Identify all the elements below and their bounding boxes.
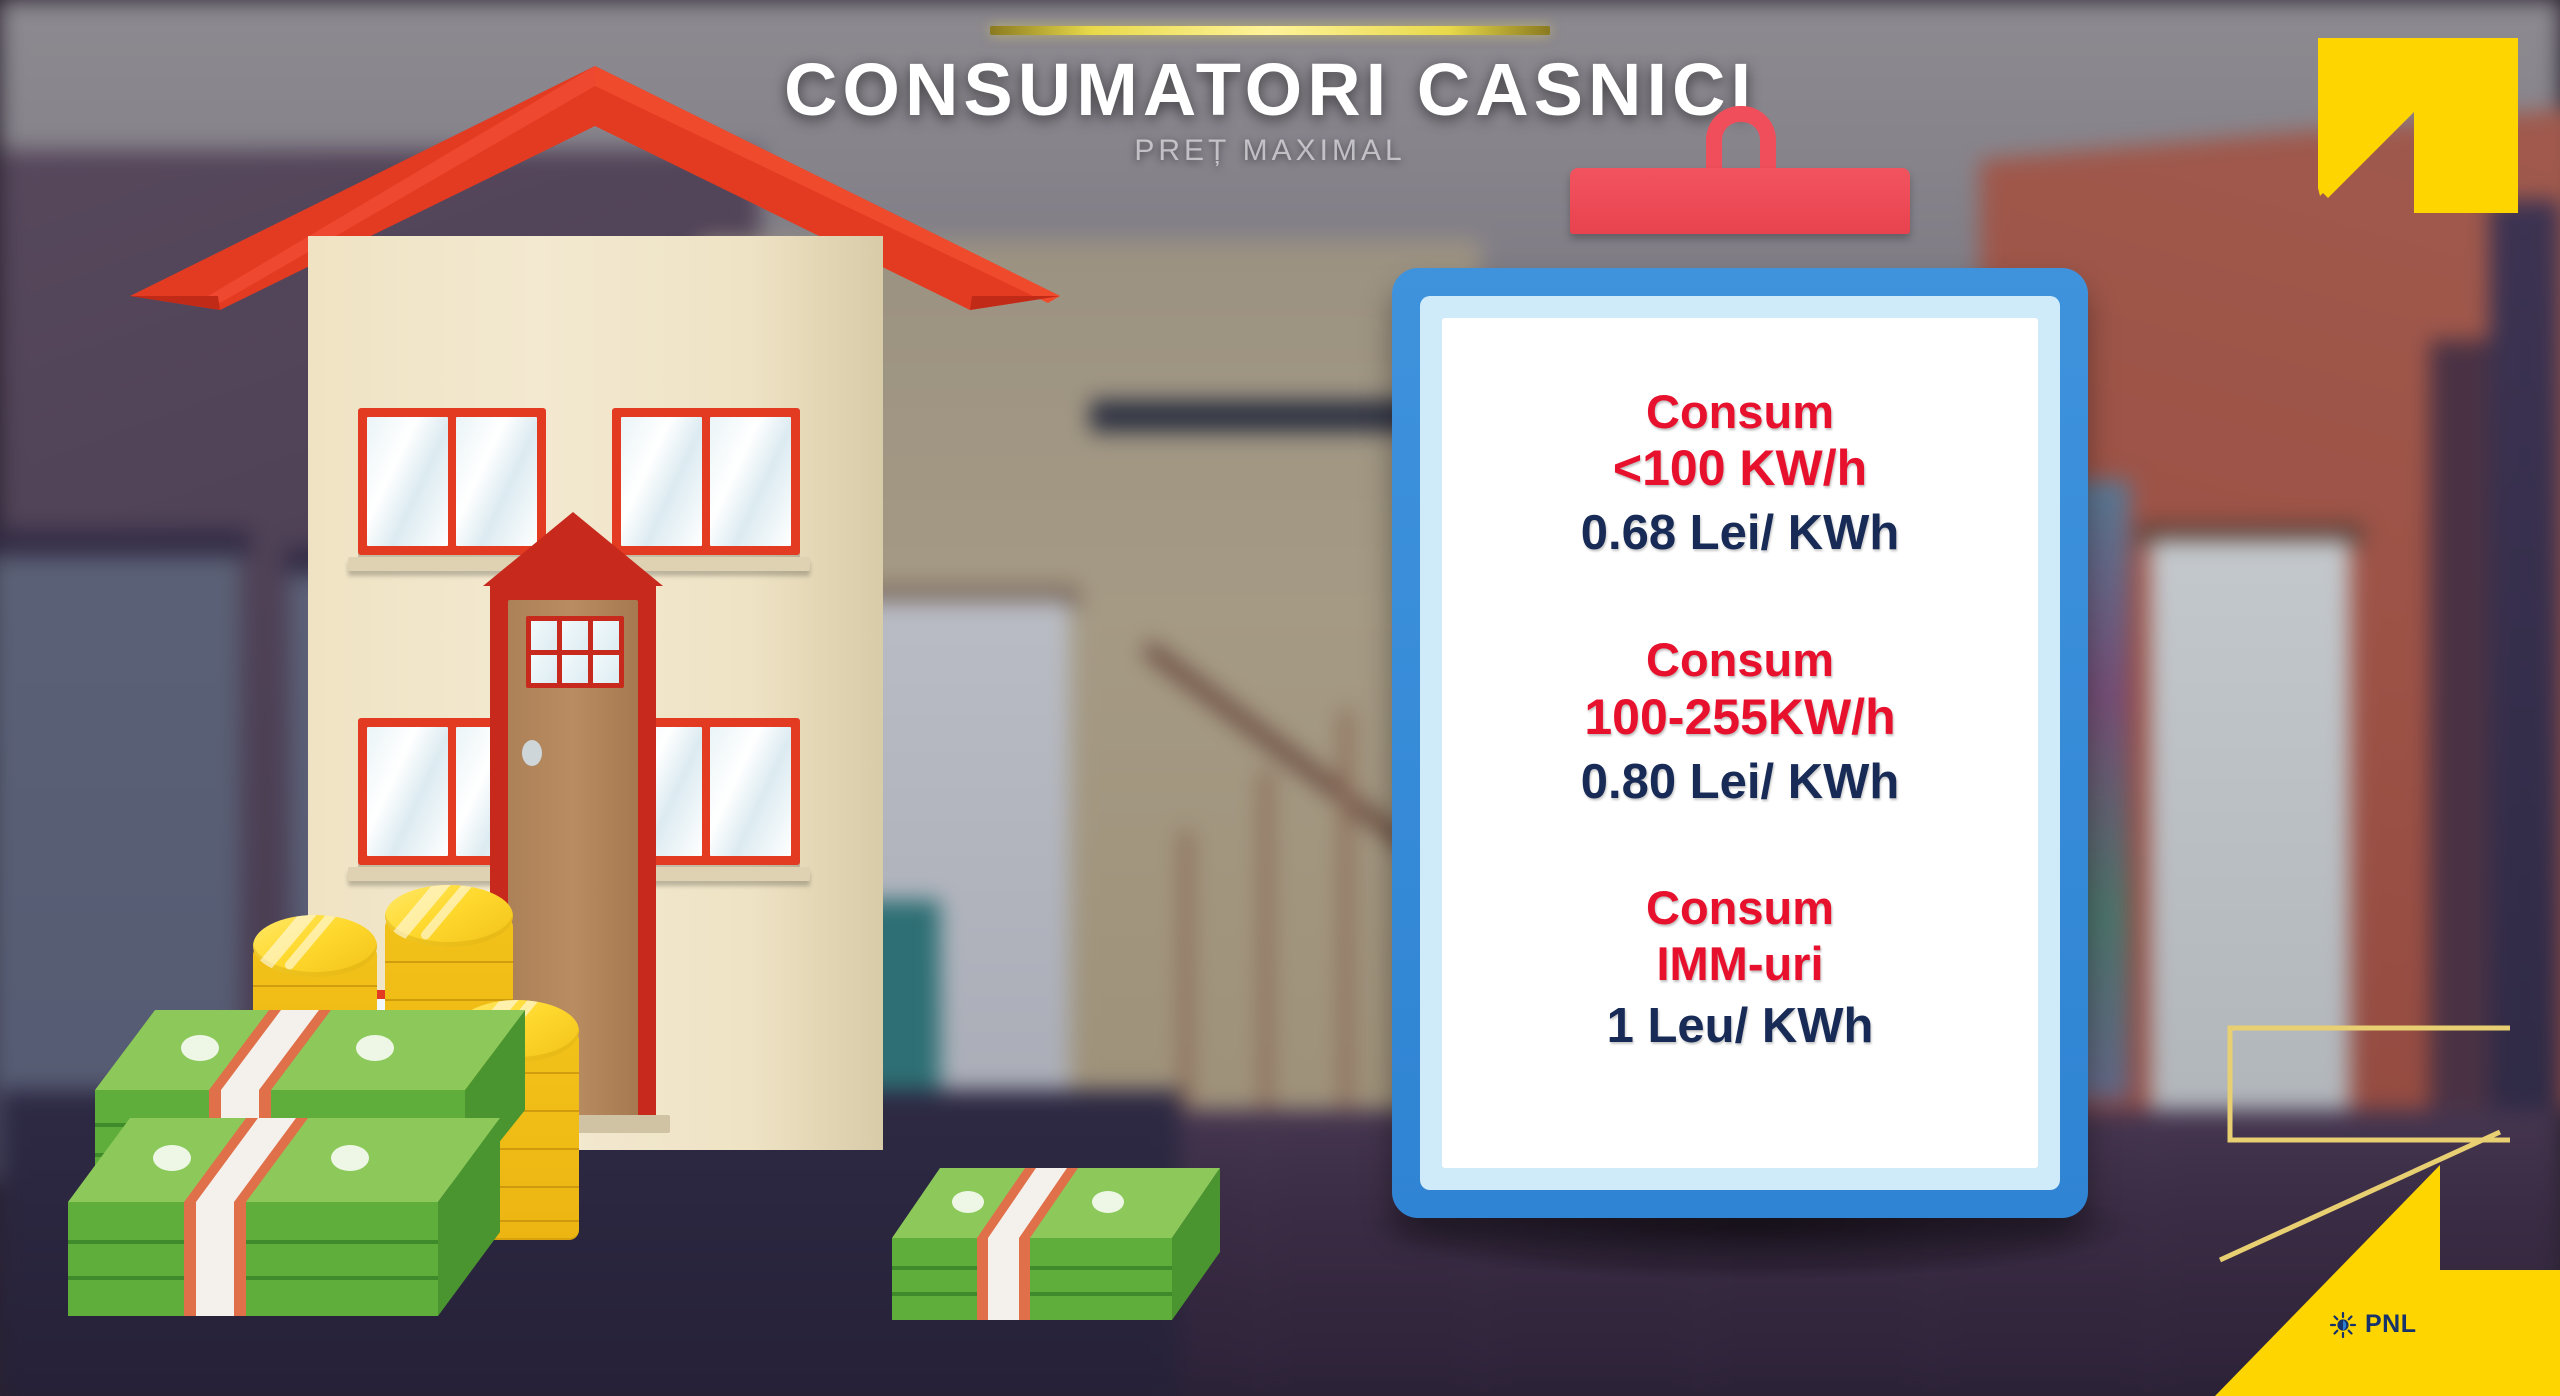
pnl-wordmark: PNL [2365, 1310, 2417, 1339]
door-knob-icon[interactable] [522, 740, 542, 766]
floor-plank [1260, 1110, 1262, 1396]
rate-heading-line1: Consum [1646, 385, 1834, 438]
door-awning-icon [483, 512, 663, 586]
door-window [526, 616, 624, 688]
rate-heading-line2: 100-255KW/h [1584, 689, 1895, 745]
money-bundle-icon [860, 1160, 1250, 1360]
pnl-logo: PNL [2330, 1310, 2417, 1339]
rate-heading: Consum <100 KW/h [1442, 384, 2038, 498]
clipboard-paper: Consum <100 KW/h 0.68 Lei/ KWh Consum 10… [1442, 318, 2038, 1168]
rate-heading-line2: <100 KW/h [1613, 440, 1867, 496]
rate-price: 1 Leu/ KWh [1442, 995, 2038, 1059]
rate-heading: Consum IMM-uri [1442, 880, 2038, 991]
rate-heading-line1: Consum [1646, 633, 1834, 686]
rate-item: Consum <100 KW/h 0.68 Lei/ KWh [1442, 384, 2038, 566]
rate-item: Consum IMM-uri 1 Leu/ KWh [1442, 880, 2038, 1059]
rate-heading-line2: IMM-uri [1656, 937, 1823, 990]
stair-post [1180, 830, 1192, 1120]
stair-post [1260, 770, 1272, 1120]
page-title: CONSUMATORI CASNICI [760, 47, 1780, 132]
page-title-block: CONSUMATORI CASNICI PREȚ MAXIMAL [760, 26, 1780, 168]
rate-heading: Consum 100-255KW/h [1442, 632, 2038, 746]
infographic-canvas: CONSUMATORI CASNICI PREȚ MAXIMAL Consum … [0, 0, 2560, 1396]
rate-list: Consum <100 KW/h 0.68 Lei/ KWh Consum 10… [1442, 384, 2038, 1128]
rate-item: Consum 100-255KW/h 0.80 Lei/ KWh [1442, 632, 2038, 814]
arrow-northeast-icon [2318, 38, 2518, 213]
clipboard-inner-border: Consum <100 KW/h 0.68 Lei/ KWh Consum 10… [1420, 296, 2060, 1190]
page-subtitle: PREȚ MAXIMAL [760, 134, 1780, 168]
clipboard-panel: Consum <100 KW/h 0.68 Lei/ KWh Consum 10… [1392, 268, 2088, 1218]
brand-block [2215, 1165, 2560, 1396]
house-facade-shading [750, 236, 883, 1150]
gold-divider [990, 26, 1550, 35]
floor-plank [2150, 1110, 2152, 1396]
rate-price: 0.68 Lei/ KWh [1442, 502, 2038, 566]
money-bundle-icon [20, 1110, 530, 1360]
clipboard-clip-icon [1570, 168, 1910, 234]
pnl-sun-icon [2330, 1312, 2356, 1338]
rate-price: 0.80 Lei/ KWh [1442, 751, 2038, 815]
far-right-wall [2490, 200, 2560, 1160]
stair-post [1340, 710, 1352, 1120]
rate-heading-line1: Consum [1646, 881, 1834, 934]
